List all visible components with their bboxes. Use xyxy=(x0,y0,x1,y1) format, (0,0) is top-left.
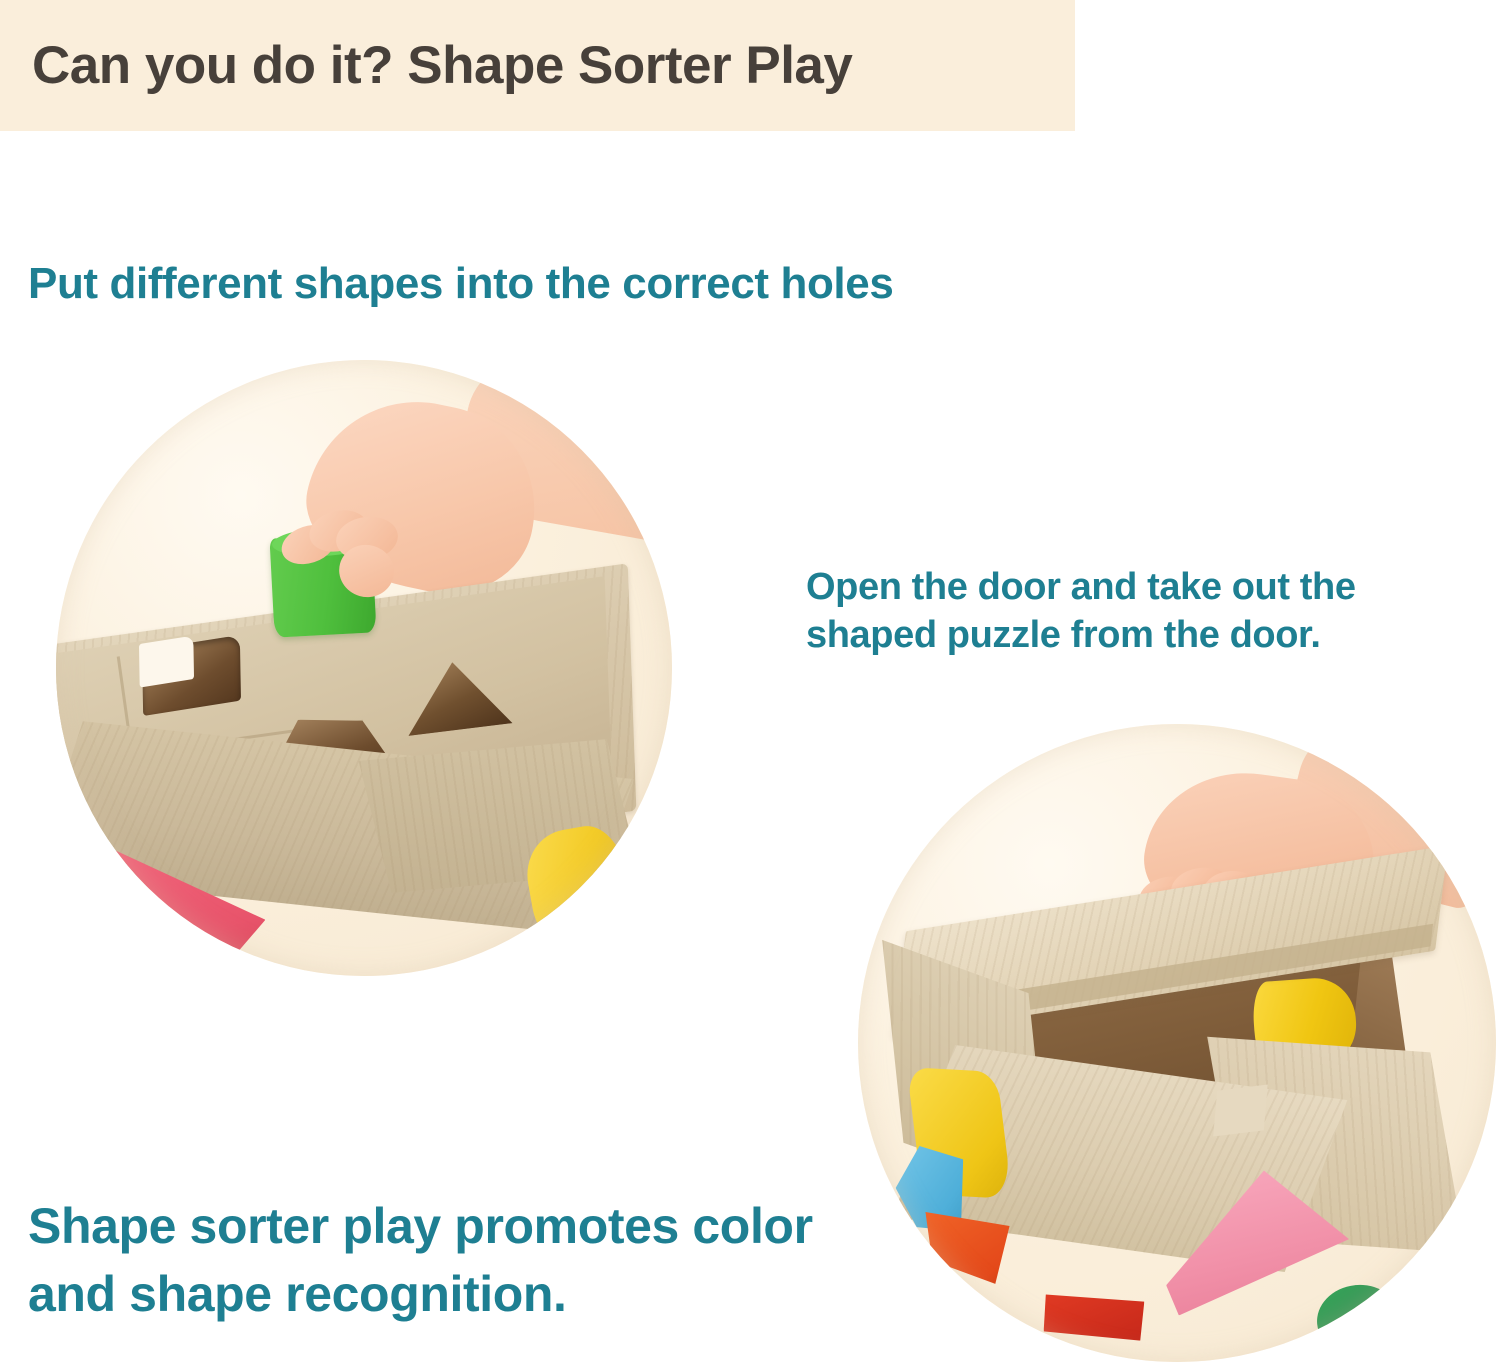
photo-open-door-box xyxy=(858,724,1496,1362)
photo-hand-inserting-cylinder xyxy=(56,360,672,976)
caption-promotes-recognition: Shape sorter play promotes color and sha… xyxy=(28,1192,908,1328)
box-front-notch xyxy=(1213,1084,1268,1136)
caption-open-the-door: Open the door and take out the shaped pu… xyxy=(806,563,1486,659)
caption-put-shapes-into-holes: Put different shapes into the correct ho… xyxy=(28,256,893,312)
photo-2-content xyxy=(858,724,1496,1362)
arch-hole-highlight xyxy=(139,636,195,688)
page-title: Can you do it? Shape Sorter Play xyxy=(32,33,852,99)
photo-1-content xyxy=(56,360,672,976)
